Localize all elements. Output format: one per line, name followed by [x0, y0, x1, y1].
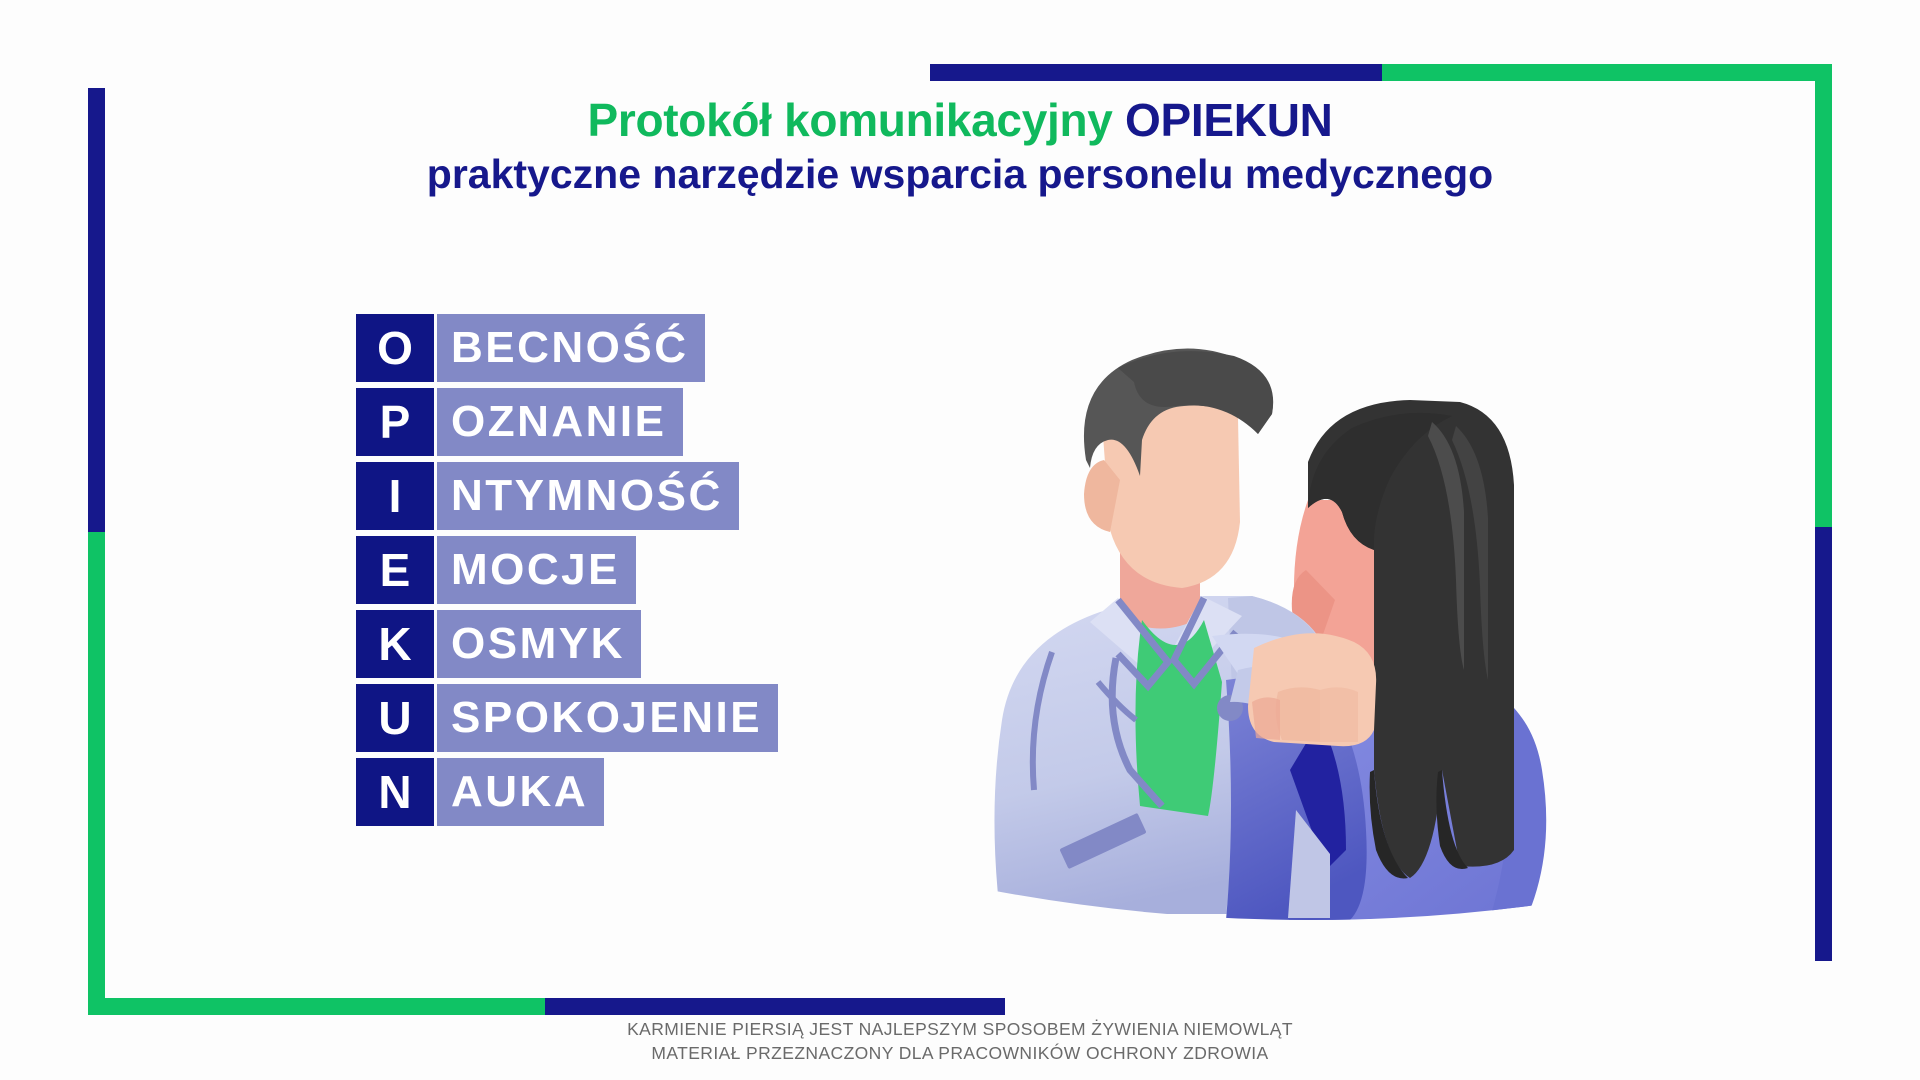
acronym-letter: K [356, 610, 434, 678]
frame-left-green-bar [88, 532, 105, 998]
title-line-1: Protokół komunikacyjny OPIEKUN [0, 96, 1920, 144]
acronym-list: O BECNOŚĆ P OZNANIE I NTYMNOŚĆ E MOCJE K… [356, 314, 778, 826]
page-title: Protokół komunikacyjny OPIEKUN praktyczn… [0, 96, 1920, 196]
frame-bottom-green-bar [88, 998, 545, 1015]
acronym-row: I NTYMNOŚĆ [356, 462, 778, 530]
acronym-row: E MOCJE [356, 536, 778, 604]
title-navy-part: OPIEKUN [1125, 94, 1332, 146]
acronym-word: MOCJE [437, 536, 636, 604]
footer-line-1: KARMIENIE PIERSIĄ JEST NAJLEPSZYM SPOSOB… [0, 1018, 1920, 1042]
footer-line-2: MATERIAŁ PRZEZNACZONY DLA PRACOWNIKÓW OC… [0, 1042, 1920, 1066]
footer-disclaimer: KARMIENIE PIERSIĄ JEST NAJLEPSZYM SPOSOB… [0, 1018, 1920, 1065]
acronym-letter: I [356, 462, 434, 530]
title-subtitle: praktyczne narzędzie wsparcia personelu … [0, 153, 1920, 196]
frame-bottom-navy-bar [545, 998, 1005, 1015]
acronym-letter: N [356, 758, 434, 826]
acronym-word: OSMYK [437, 610, 641, 678]
acronym-row: U SPOKOJENIE [356, 684, 778, 752]
acronym-letter: U [356, 684, 434, 752]
acronym-row: O BECNOŚĆ [356, 314, 778, 382]
acronym-letter: E [356, 536, 434, 604]
acronym-row: K OSMYK [356, 610, 778, 678]
acronym-letter: P [356, 388, 434, 456]
frame-top-green-bar [1382, 64, 1832, 81]
acronym-word: BECNOŚĆ [437, 314, 705, 382]
acronym-word: SPOKOJENIE [437, 684, 778, 752]
slide-root: Protokół komunikacyjny OPIEKUN praktyczn… [0, 0, 1920, 1080]
acronym-word: OZNANIE [437, 388, 683, 456]
acronym-word: NTYMNOŚĆ [437, 462, 739, 530]
doctor-and-mother-illustration [990, 250, 1630, 950]
title-green-part: Protokół komunikacyjny [587, 94, 1125, 146]
acronym-word: AUKA [437, 758, 604, 826]
frame-right-navy-bar [1815, 527, 1832, 961]
acronym-row: P OZNANIE [356, 388, 778, 456]
acronym-letter: O [356, 314, 434, 382]
frame-top-navy-bar [930, 64, 1382, 81]
acronym-row: N AUKA [356, 758, 778, 826]
